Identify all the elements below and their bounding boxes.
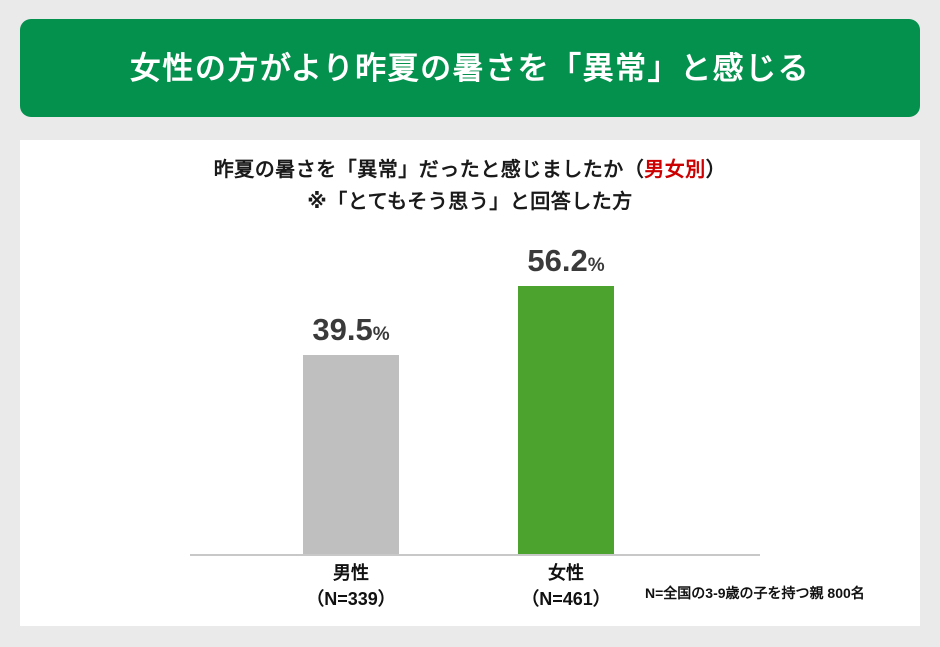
chart-card: 昨夏の暑さを「異常」だったと感じましたか（男女別） ※「とてもそう思う」と回答し… [20, 140, 920, 626]
bar-value-male: 39.5% [281, 314, 421, 345]
bar-value-female: 56.2% [496, 245, 636, 276]
bar-male [303, 355, 399, 554]
x-axis-label-female: 女性 （N=461） [471, 560, 661, 612]
x-axis-label-female-count: （N=461） [471, 586, 661, 612]
x-axis-label-female-category: 女性 [471, 560, 661, 586]
bar-female [518, 286, 614, 554]
sample-size-note: N=全国の3-9歳の子を持つ親 800名 [645, 583, 865, 603]
x-axis-label-male: 男性 （N=339） [256, 560, 446, 612]
percent-sign-male: % [373, 324, 390, 345]
bar-chart-plot: 39.5% 56.2% 男性 （N=339） 女性 （N=461） N=全国の3… [20, 140, 920, 626]
header-banner: 女性の方がより昨夏の暑さを「異常」と感じる [20, 19, 920, 117]
percent-sign-female: % [588, 255, 605, 276]
x-axis-label-male-category: 男性 [256, 560, 446, 586]
page-title: 女性の方がより昨夏の暑さを「異常」と感じる [130, 53, 810, 84]
x-axis-label-male-count: （N=339） [256, 586, 446, 612]
bar-value-male-number: 39.5 [312, 312, 372, 347]
x-axis-line [190, 554, 760, 556]
bar-value-female-number: 56.2 [527, 243, 587, 278]
